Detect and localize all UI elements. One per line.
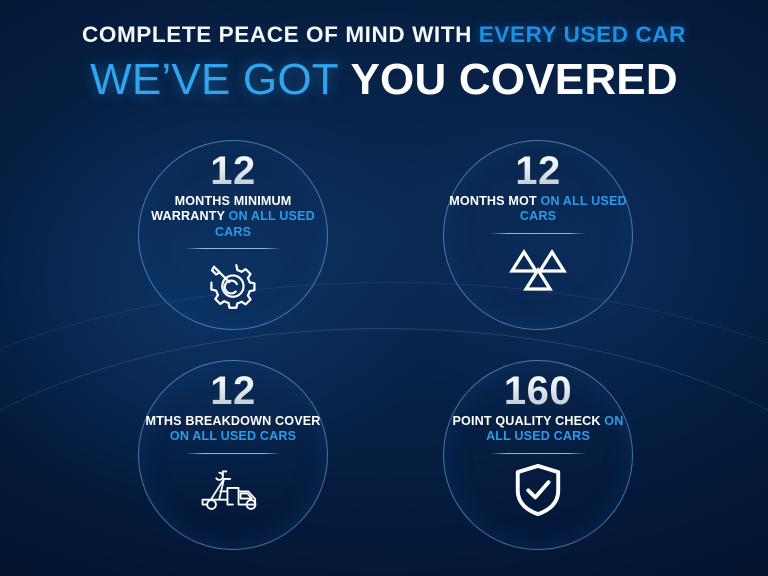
badge-number: 12	[515, 151, 561, 191]
headline-line-2-white: YOU COVERED	[350, 55, 677, 104]
badge-caption-white: MONTHS MOT	[449, 194, 540, 208]
badge-warranty[interactable]: 12 MONTHS MINIMUM WARRANTY ON ALL USED C…	[138, 140, 328, 330]
badge-caption-white: POINT QUALITY CHECK	[452, 414, 604, 428]
badge-number: 160	[504, 371, 572, 411]
badge-caption: MONTHS MOT ON ALL USED CARS	[448, 194, 628, 225]
shield-check-icon	[513, 461, 563, 519]
badge-caption: MTHS BREAKDOWN COVER ON ALL USED CARS	[143, 414, 323, 445]
badge-caption-white: MTHS BREAKDOWN COVER	[145, 414, 320, 428]
badge-mot[interactable]: 12 MONTHS MOT ON ALL USED CARS	[443, 140, 633, 330]
headline-line-1-blue: EVERY USED CAR	[479, 22, 686, 47]
mot-triangles-icon	[508, 241, 568, 299]
badge-grid: 12 MONTHS MINIMUM WARRANTY ON ALL USED C…	[0, 128, 768, 576]
badge-caption-blue: ON ALL USED CARS	[170, 429, 296, 443]
badge-number: 12	[210, 371, 256, 411]
badge-divider	[185, 248, 281, 249]
headline-line-2: WE’VE GOT YOU COVERED	[0, 52, 768, 108]
badge-number: 12	[210, 151, 256, 191]
headline-block: COMPLETE PEACE OF MIND WITH EVERY USED C…	[0, 20, 768, 108]
badge-breakdown-cover[interactable]: 12 MTHS BREAKDOWN COVER ON ALL USED CARS	[138, 360, 328, 550]
promo-banner: COMPLETE PEACE OF MIND WITH EVERY USED C…	[0, 0, 768, 576]
tow-truck-icon	[197, 461, 269, 519]
badge-caption: MONTHS MINIMUM WARRANTY ON ALL USED CARS	[143, 194, 323, 240]
badge-caption-blue: ON ALL USED CARS	[215, 209, 315, 238]
gear-wrench-icon	[206, 256, 260, 314]
badge-divider	[490, 233, 586, 234]
badge-caption: POINT QUALITY CHECK ON ALL USED CARS	[448, 414, 628, 445]
badge-divider	[490, 453, 586, 454]
headline-line-1: COMPLETE PEACE OF MIND WITH EVERY USED C…	[0, 20, 768, 50]
badge-divider	[185, 453, 281, 454]
headline-line-2-blue: WE’VE GOT	[90, 55, 350, 104]
headline-line-1-white: COMPLETE PEACE OF MIND WITH	[82, 22, 479, 47]
badge-quality-check[interactable]: 160 POINT QUALITY CHECK ON ALL USED CARS	[443, 360, 633, 550]
